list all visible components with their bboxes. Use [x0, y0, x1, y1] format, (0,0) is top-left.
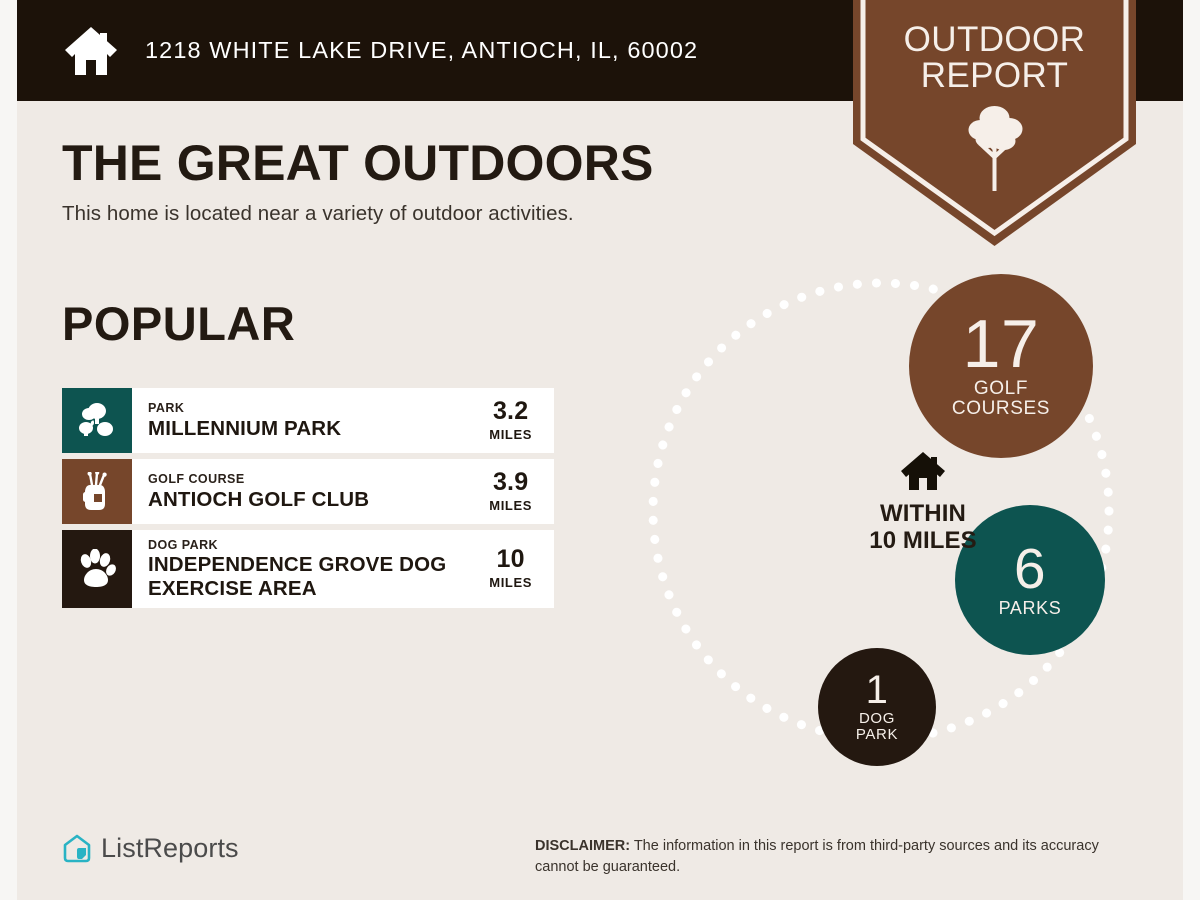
- listreports-house-icon: [62, 834, 92, 864]
- paw-print-icon: [78, 549, 116, 589]
- page-title: THE GREAT OUTDOORS: [62, 138, 654, 188]
- item-body: PARK MILLENNIUM PARK 3.2 MILES: [132, 388, 554, 453]
- disclaimer: DISCLAIMER: The information in this repo…: [535, 836, 1135, 878]
- bubble-count: 1: [866, 671, 889, 709]
- bubble-label-line2: PARK: [856, 727, 898, 743]
- badge-title: OUTDOOR REPORT: [853, 22, 1136, 93]
- item-category: DOG PARK: [148, 538, 479, 552]
- bubble-dog-park[interactable]: 1 DOG PARK: [818, 648, 936, 766]
- item-icon-tile: [62, 388, 132, 453]
- item-body: GOLF COURSE ANTIOCH GOLF CLUB 3.9 MILES: [132, 459, 554, 524]
- item-labels: DOG PARK INDEPENDENCE GROVE DOG EXERCISE…: [148, 538, 479, 600]
- bubble-label-line1: DOG: [859, 710, 895, 727]
- home-icon: [900, 450, 946, 492]
- distance-unit: MILES: [489, 427, 532, 442]
- bubble-golf-courses[interactable]: 17 GOLF COURSES: [909, 274, 1093, 458]
- listreports-logo[interactable]: ListReports: [62, 833, 239, 864]
- distance-unit: MILES: [489, 575, 532, 590]
- bubble-label: DOG PARK: [856, 711, 898, 743]
- bubble-label: PARKS: [999, 599, 1062, 618]
- item-name: MILLENNIUM PARK: [148, 417, 479, 440]
- badge-title-line1: OUTDOOR: [904, 20, 1086, 59]
- popular-list: PARK MILLENNIUM PARK 3.2 MILES: [62, 388, 554, 614]
- item-icon-tile: [62, 530, 132, 608]
- within-line1: WITHIN: [880, 500, 966, 527]
- item-labels: GOLF COURSE ANTIOCH GOLF CLUB: [148, 472, 479, 511]
- item-category: PARK: [148, 401, 479, 415]
- diagram-center-label: WITHIN 10 MILES: [838, 450, 1008, 555]
- golf-bag-icon: [80, 472, 114, 512]
- item-distance: 10 MILES: [479, 547, 554, 590]
- item-distance: 3.2 MILES: [479, 399, 554, 442]
- bubble-label-line1: GOLF: [974, 378, 1028, 399]
- property-address: 1218 WHITE LAKE DRIVE, ANTIOCH, IL, 6000…: [145, 37, 698, 64]
- list-item[interactable]: DOG PARK INDEPENDENCE GROVE DOG EXERCISE…: [62, 530, 554, 608]
- title-block: THE GREAT OUTDOORS This home is located …: [62, 138, 654, 226]
- distance-value: 3.2: [489, 399, 532, 424]
- item-body: DOG PARK INDEPENDENCE GROVE DOG EXERCISE…: [132, 530, 554, 608]
- distance-value: 3.9: [489, 470, 532, 495]
- popular-heading: POPULAR: [62, 300, 295, 347]
- list-item[interactable]: PARK MILLENNIUM PARK 3.2 MILES: [62, 388, 554, 453]
- trees-icon: [77, 402, 117, 440]
- home-icon: [63, 24, 119, 78]
- proximity-diagram: 17 GOLF COURSES 6 PARKS 1 DOG PARK: [600, 250, 1166, 790]
- infographic-page: 1218 WHITE LAKE DRIVE, ANTIOCH, IL, 6000…: [0, 0, 1200, 900]
- item-category: GOLF COURSE: [148, 472, 479, 486]
- list-item[interactable]: GOLF COURSE ANTIOCH GOLF CLUB 3.9 MILES: [62, 459, 554, 524]
- bubble-label-line1: PARKS: [999, 598, 1062, 618]
- bubble-label: GOLF COURSES: [952, 379, 1050, 420]
- within-distance-text: WITHIN 10 MILES: [838, 500, 1008, 555]
- item-labels: PARK MILLENNIUM PARK: [148, 401, 479, 440]
- page-subtitle: This home is located near a variety of o…: [62, 202, 654, 226]
- item-icon-tile: [62, 459, 132, 524]
- item-name: INDEPENDENCE GROVE DOG EXERCISE AREA: [148, 553, 479, 599]
- distance-unit: MILES: [489, 498, 532, 513]
- disclaimer-label: DISCLAIMER:: [535, 838, 630, 854]
- bubble-label-line2: COURSES: [952, 399, 1050, 420]
- bubble-count: 17: [963, 312, 1040, 377]
- distance-value: 10: [489, 547, 532, 572]
- outdoor-report-badge: OUTDOOR REPORT: [853, 0, 1136, 246]
- badge-title-line2: REPORT: [853, 58, 1136, 94]
- bubble-count: 6: [1014, 542, 1046, 596]
- listreports-wordmark: ListReports: [101, 833, 239, 864]
- item-distance: 3.9 MILES: [479, 470, 554, 513]
- item-name: ANTIOCH GOLF CLUB: [148, 488, 479, 511]
- within-line2: 10 MILES: [838, 527, 1008, 554]
